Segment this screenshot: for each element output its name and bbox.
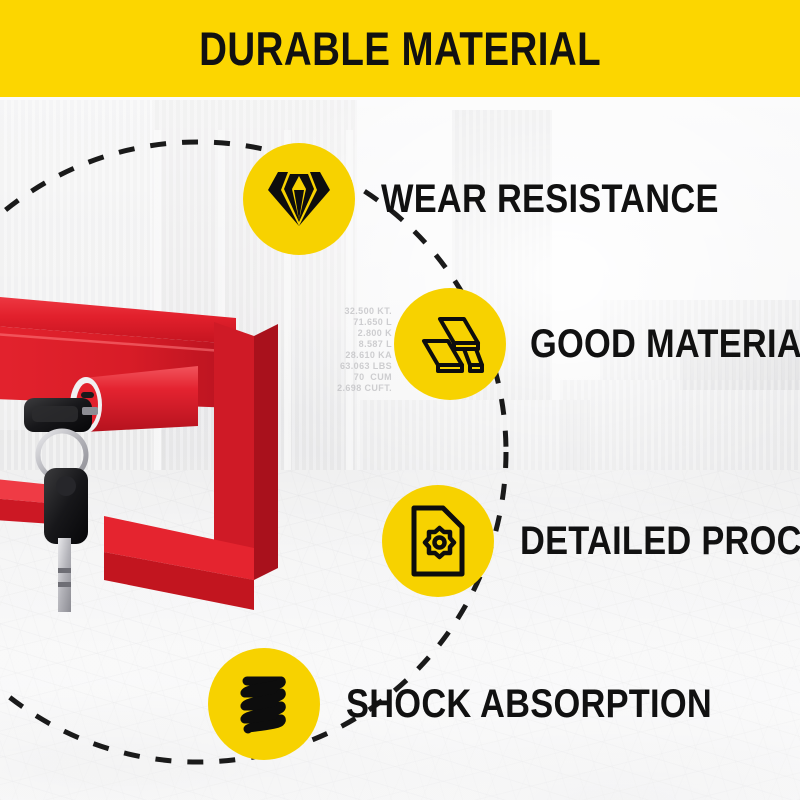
feature-label-wear-resistance: WEAR RESISTANCE [381, 177, 719, 222]
page-title: DURABLE MATERIAL [199, 21, 601, 76]
feature-item-shock-absorption[interactable]: SHOCK ABSORPTION [208, 648, 772, 760]
feature-icon-bubble [394, 288, 506, 400]
infographic-canvas: 32.500 KT. 71.650 L 2.800 K 8.587 L 28.6… [0, 0, 800, 800]
gold-bars-icon [414, 313, 486, 375]
key-inserted [24, 398, 98, 432]
feature-icon-bubble [243, 143, 355, 255]
product-trailer-coupler-lock [0, 280, 286, 620]
lock-right-post-side [254, 324, 278, 580]
feature-label-good-material: GOOD MATERIAL [530, 322, 800, 367]
diamond-icon [266, 170, 332, 228]
feature-item-wear-resistance[interactable]: WEAR RESISTANCE [243, 143, 774, 255]
container-stencil-text: 32.500 KT. 71.650 L 2.800 K 8.587 L 28.6… [300, 306, 392, 394]
header-banner: DURABLE MATERIAL [0, 0, 800, 97]
feature-icon-bubble [382, 485, 494, 597]
feature-item-detailed-process[interactable]: DETAILED PROCESS [382, 485, 800, 597]
feature-label-detailed-process: DETAILED PROCESS [520, 519, 800, 564]
feature-item-good-material[interactable]: GOOD MATERIAL [394, 288, 800, 400]
coil-spring-icon [233, 671, 295, 737]
keyhole-slot [81, 392, 94, 398]
document-gear-icon [409, 504, 467, 578]
feature-label-shock-absorption: SHOCK ABSORPTION [346, 682, 712, 727]
feature-icon-bubble [208, 648, 320, 760]
key-blade [58, 538, 71, 612]
key-hanging [44, 468, 88, 612]
